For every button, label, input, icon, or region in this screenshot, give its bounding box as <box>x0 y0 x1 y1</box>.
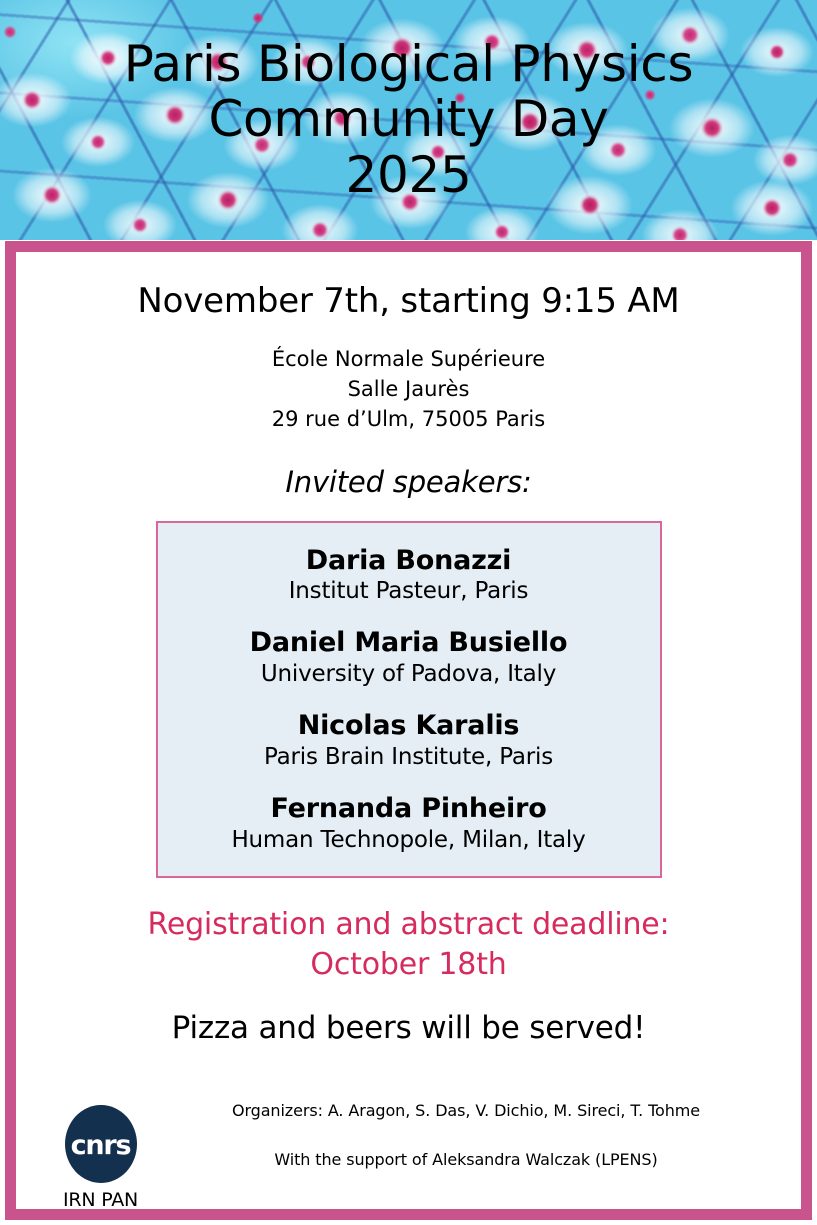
title-line-2: Community Day <box>208 92 608 148</box>
venue-line-room: Salle Jaurès <box>16 375 801 405</box>
title-line-1: Paris Biological Physics <box>124 37 693 93</box>
speaker-name: Daria Bonazzi <box>168 545 650 577</box>
speaker-entry: Daria Bonazzi Institut Pasteur, Paris <box>168 545 650 606</box>
header-banner: Paris Biological Physics Community Day 2… <box>0 0 817 240</box>
cnrs-logo-text: cnrs <box>71 1132 131 1159</box>
poster-footer: cnrs IRN PAN Organizers: A. Aragon, S. D… <box>16 1095 801 1210</box>
speaker-affiliation: Institut Pasteur, Paris <box>168 577 650 606</box>
deadline-label: Registration and abstract deadline: <box>16 905 801 945</box>
invited-speakers-heading: Invited speakers: <box>16 465 801 499</box>
organizers-line: Organizers: A. Aragon, S. Das, V. Dichio… <box>156 1101 776 1122</box>
speaker-name: Fernanda Pinheiro <box>168 793 650 825</box>
catering-note: Pizza and beers will be served! <box>16 1010 801 1046</box>
cnrs-logo: cnrs IRN PAN <box>48 1105 153 1211</box>
speaker-name: Nicolas Karalis <box>168 710 650 742</box>
support-line: With the support of Aleksandra Walczak (… <box>156 1150 776 1171</box>
speaker-entry: Nicolas Karalis Paris Brain Institute, P… <box>168 710 650 771</box>
speaker-entry: Daniel Maria Busiello University of Pado… <box>168 627 650 688</box>
speaker-entry: Fernanda Pinheiro Human Technopole, Mila… <box>168 793 650 854</box>
irn-pan-label: IRN PAN <box>48 1189 153 1211</box>
poster-body: November 7th, starting 9:15 AM École Nor… <box>16 252 801 1209</box>
speakers-panel: Daria Bonazzi Institut Pasteur, Paris Da… <box>156 521 662 879</box>
speaker-affiliation: Human Technopole, Milan, Italy <box>168 826 650 855</box>
speaker-affiliation: Paris Brain Institute, Paris <box>168 743 650 772</box>
deadline-date: October 18th <box>16 945 801 985</box>
speaker-affiliation: University of Padova, Italy <box>168 660 650 689</box>
title-line-3-year: 2025 <box>345 148 471 204</box>
venue-line-street: 29 rue d’Ulm, 75005 Paris <box>16 405 801 435</box>
event-date-time: November 7th, starting 9:15 AM <box>16 282 801 321</box>
venue-line-institution: École Normale Supérieure <box>16 345 801 375</box>
venue-address: École Normale Supérieure Salle Jaurès 29… <box>16 345 801 434</box>
footer-credits: Organizers: A. Aragon, S. Das, V. Dichio… <box>156 1101 776 1171</box>
registration-deadline: Registration and abstract deadline: Octo… <box>16 905 801 985</box>
poster-title: Paris Biological Physics Community Day 2… <box>0 0 817 240</box>
cnrs-oval-icon: cnrs <box>65 1105 137 1183</box>
speaker-name: Daniel Maria Busiello <box>168 627 650 659</box>
poster-root: Paris Biological Physics Community Day 2… <box>0 0 817 1225</box>
